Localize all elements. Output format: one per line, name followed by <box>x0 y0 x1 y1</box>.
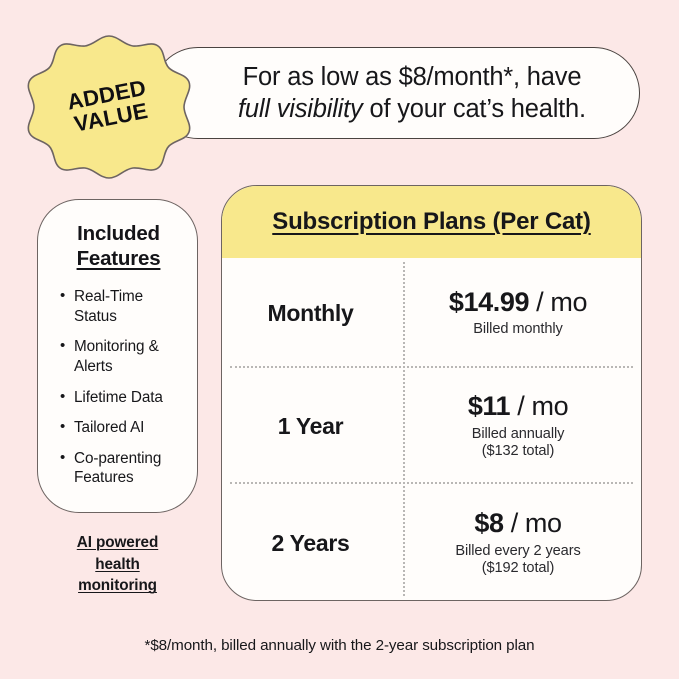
plan-price-block: $14.99 / mo Billed monthly <box>403 287 641 339</box>
plan-price-period: / mo <box>510 391 568 421</box>
plan-name: 2 Years <box>222 530 403 557</box>
plan-name: 1 Year <box>222 413 403 440</box>
list-item: Tailored AI <box>60 418 183 438</box>
features-title-line-2: Features <box>77 247 161 270</box>
table-row: 2 Years $8 / mo Billed every 2 years ($1… <box>222 484 641 601</box>
ai-monitoring-tagline: AI powered health monitoring <box>37 532 198 597</box>
subscription-plans-table: Monthly $14.99 / mo Billed monthly 1 Yea… <box>222 258 641 600</box>
plan-price-amount: $8 <box>474 508 503 538</box>
plan-price-amount: $14.99 <box>449 287 529 317</box>
features-title-line-1: Included <box>77 222 160 245</box>
plan-price: $8 / mo <box>403 508 633 539</box>
headline-text: For as low as $8/month*, have full visib… <box>206 61 586 126</box>
starburst-badge-icon <box>34 33 184 181</box>
plan-billing-note-line-2: ($132 total) <box>482 443 555 459</box>
infographic-canvas: For as low as $8/month*, have full visib… <box>0 0 679 679</box>
subscription-plans-card: Subscription Plans (Per Cat) Monthly $14… <box>221 185 642 601</box>
list-item: Lifetime Data <box>60 388 183 408</box>
plan-name: Monthly <box>222 300 403 327</box>
tagline-line-2: health <box>95 556 139 573</box>
headline-line-1: For as low as $8/month*, have <box>243 63 582 91</box>
plan-price-block: $11 / mo Billed annually ($132 total) <box>403 391 641 460</box>
plan-price: $14.99 / mo <box>403 287 633 318</box>
added-value-badge: ADDED VALUE <box>34 33 184 181</box>
plan-price-period: / mo <box>529 287 587 317</box>
plan-billing-note: Billed monthly <box>403 321 633 339</box>
features-title: Included Features <box>54 222 183 271</box>
table-row: 1 Year $11 / mo Billed annually ($132 to… <box>222 368 641 484</box>
plan-billing-note-line-1: Billed every 2 years <box>455 543 580 559</box>
headline-banner: For as low as $8/month*, have full visib… <box>152 47 640 139</box>
tagline-line-3: monitoring <box>78 577 157 594</box>
plan-price-block: $8 / mo Billed every 2 years ($192 total… <box>403 508 641 577</box>
table-row: Monthly $14.99 / mo Billed monthly <box>222 258 641 368</box>
plan-price-period: / mo <box>504 508 562 538</box>
subscription-plans-header: Subscription Plans (Per Cat) <box>222 186 641 258</box>
footnote: *$8/month, billed annually with the 2-ye… <box>0 637 679 654</box>
tagline-line-1: AI powered <box>77 534 158 551</box>
plan-billing-note: Billed annually ($132 total) <box>403 426 633 461</box>
plan-billing-note-line-1: Billed annually <box>472 426 565 442</box>
list-item: Monitoring & Alerts <box>60 337 183 376</box>
plan-billing-note: Billed every 2 years ($192 total) <box>403 543 633 578</box>
list-item: Co-parenting Features <box>60 449 183 488</box>
headline-line-2-rest: of your cat’s health. <box>363 95 586 123</box>
plan-billing-note-line-2: ($192 total) <box>482 560 555 576</box>
plan-billing-note-line-1: Billed monthly <box>473 321 562 337</box>
plan-price: $11 / mo <box>403 391 633 422</box>
subscription-plans-title: Subscription Plans (Per Cat) <box>272 208 590 236</box>
list-item: Real-Time Status <box>60 287 183 326</box>
features-list: Real-Time Status Monitoring & Alerts Lif… <box>54 287 183 488</box>
plan-price-amount: $11 <box>468 391 510 421</box>
included-features-card: Included Features Real-Time Status Monit… <box>37 199 198 513</box>
headline-emphasis: full visibility <box>238 95 363 123</box>
